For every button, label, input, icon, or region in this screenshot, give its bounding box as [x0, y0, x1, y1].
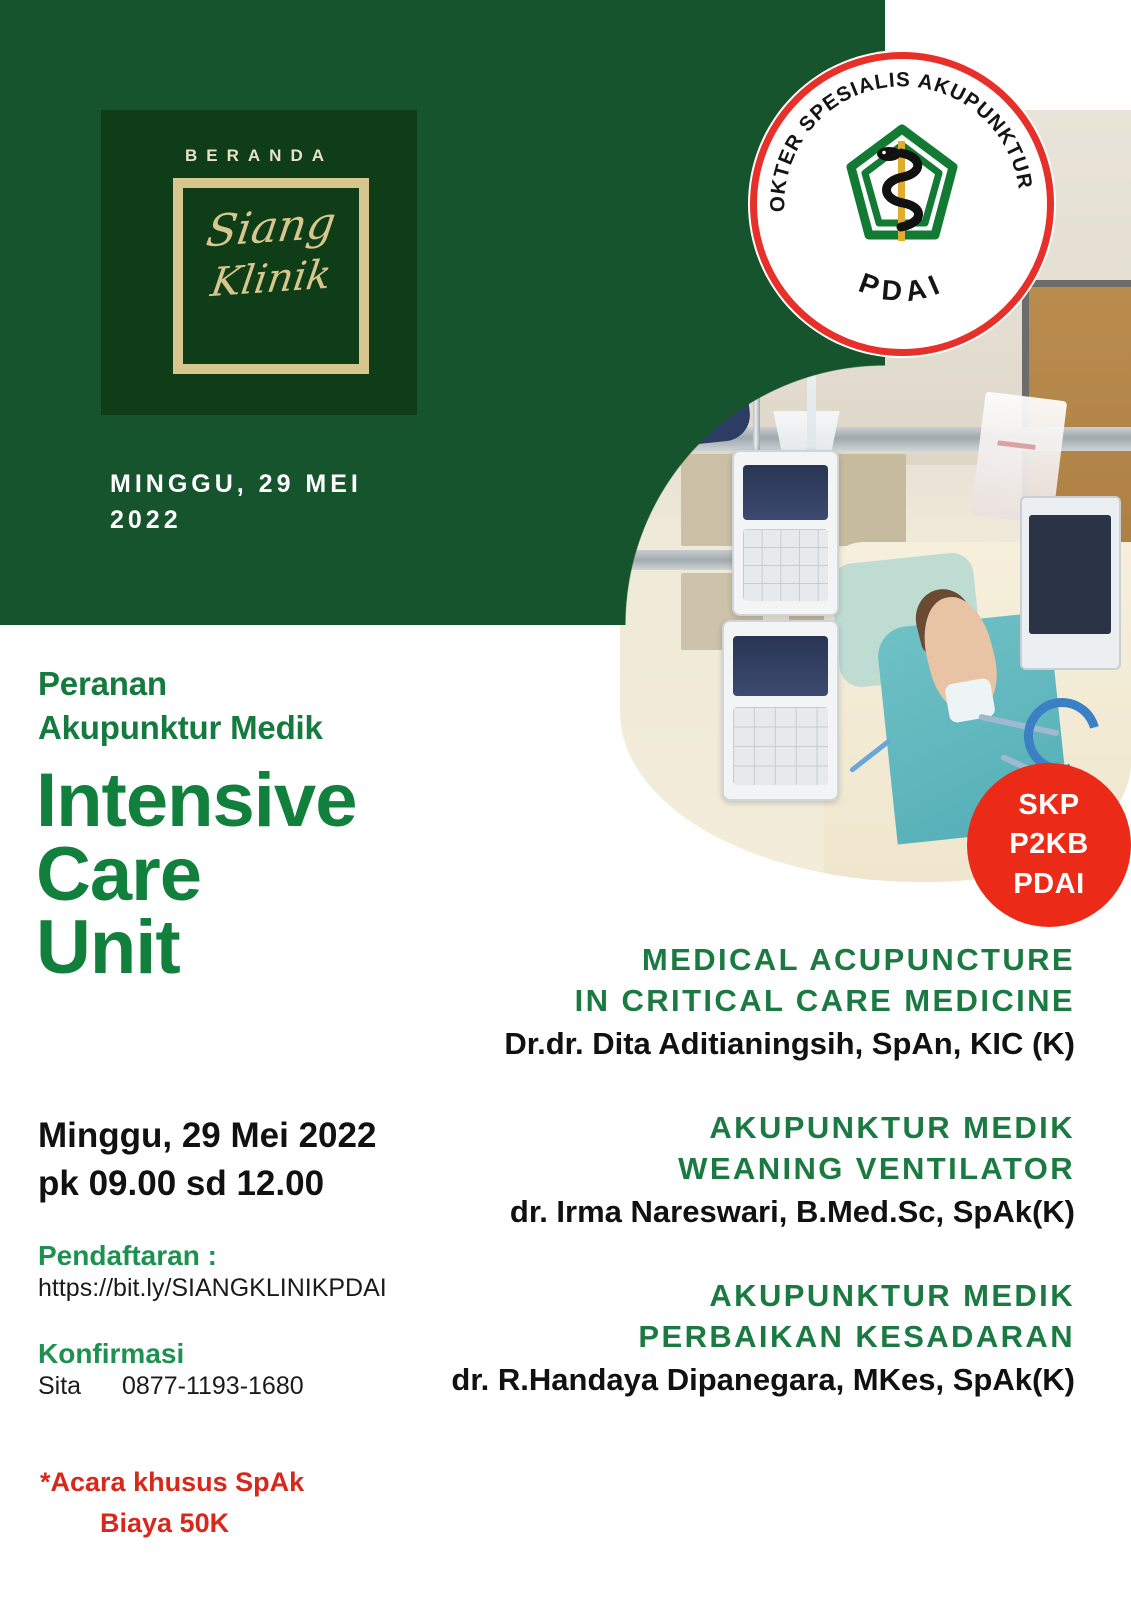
- subtitle-kicker: Peranan Akupunktur Medik: [38, 662, 468, 750]
- confirmation-phone[interactable]: 0877-1193-1680: [122, 1372, 304, 1400]
- session-item: MEDICAL ACUPUNCTURE IN CRITICAL CARE MED…: [375, 940, 1075, 1064]
- kicker-line-2: Akupunktur Medik: [38, 706, 468, 750]
- svg-text:PDAI: PDAI: [855, 267, 950, 308]
- session-topic-line-1: AKUPUNKTUR MEDIK: [375, 1108, 1075, 1149]
- fee-note: *Acara khusus SpAk Biaya 50K: [40, 1462, 510, 1543]
- date-banner: MINGGU, 29 MEI 2022: [110, 466, 440, 539]
- fee-note-line-2: Biaya 50K: [100, 1503, 510, 1544]
- skp-line-1: SKP: [1018, 786, 1079, 825]
- skp-line-3: PDAI: [1013, 865, 1084, 904]
- title-line-2: Care: [36, 838, 496, 912]
- session-topic-line-1: MEDICAL ACUPUNCTURE: [375, 940, 1075, 981]
- brand-gold-frame: Siang Klinik: [173, 178, 369, 374]
- rod-of-asclepius-icon: [827, 123, 977, 273]
- event-poster: BERANDA Siang Klinik MINGGU, 29 MEI 2022…: [0, 0, 1131, 1600]
- session-item: AKUPUNKTUR MEDIK WEANING VENTILATOR dr. …: [375, 1108, 1075, 1232]
- session-topic-line-2: WEANING VENTILATOR: [375, 1149, 1075, 1190]
- brand-script: Siang Klinik: [183, 204, 359, 301]
- pdai-seal: PERHIMPUNAN DOKTER SPESIALIS AKUPUNKTUR …: [750, 52, 1054, 356]
- session-topic-line-1: AKUPUNKTUR MEDIK: [375, 1276, 1075, 1317]
- skp-badge: SKP P2KB PDAI: [967, 763, 1131, 927]
- session-topic: MEDICAL ACUPUNCTURE IN CRITICAL CARE MED…: [375, 940, 1075, 1022]
- session-speaker: dr. Irma Nareswari, B.Med.Sc, SpAk(K): [375, 1192, 1075, 1232]
- title-line-1: Intensive: [36, 764, 496, 838]
- brand-wordmark: BERANDA: [101, 146, 417, 166]
- session-topic-line-2: PERBAIKAN KESADARAN: [375, 1317, 1075, 1358]
- session-item: AKUPUNKTUR MEDIK PERBAIKAN KESADARAN dr.…: [375, 1276, 1075, 1400]
- beranda-siang-klinik-logo: BERANDA Siang Klinik: [101, 110, 417, 415]
- session-list: MEDICAL ACUPUNCTURE IN CRITICAL CARE MED…: [375, 940, 1075, 1400]
- session-topic: AKUPUNKTUR MEDIK PERBAIKAN KESADARAN: [375, 1276, 1075, 1358]
- brand-script-line1: Siang: [179, 198, 364, 258]
- session-speaker: Dr.dr. Dita Aditianingsih, SpAn, KIC (K): [375, 1024, 1075, 1064]
- session-speaker: dr. R.Handaya Dipanegara, MKes, SpAk(K): [375, 1360, 1075, 1400]
- session-topic-line-2: IN CRITICAL CARE MEDICINE: [375, 981, 1075, 1022]
- fee-note-line-1: *Acara khusus SpAk: [40, 1467, 304, 1497]
- confirmation-name: Sita: [38, 1372, 122, 1401]
- skp-line-2: P2KB: [1009, 825, 1088, 864]
- brand-script-line2: Klinik: [179, 251, 363, 306]
- session-topic: AKUPUNKTUR MEDIK WEANING VENTILATOR: [375, 1108, 1075, 1190]
- kicker-line-1: Peranan: [38, 662, 468, 706]
